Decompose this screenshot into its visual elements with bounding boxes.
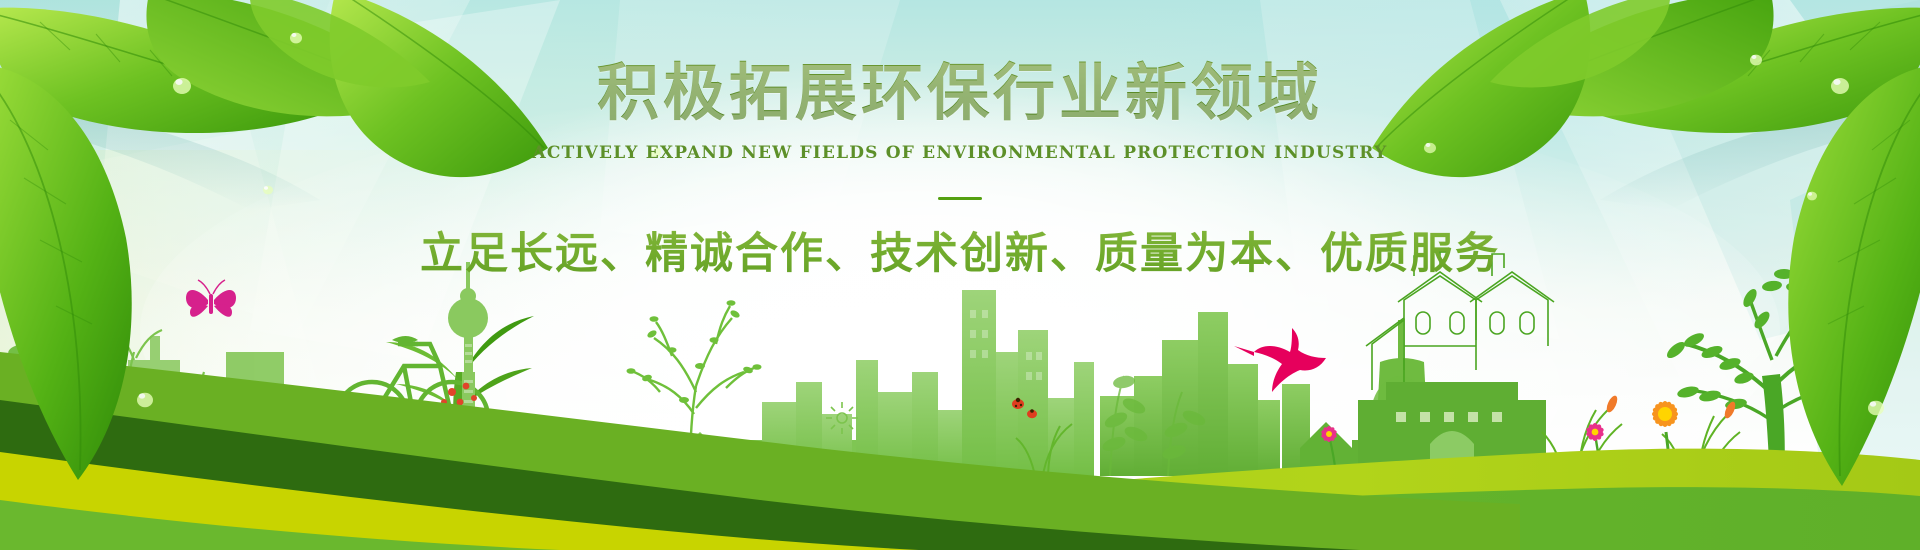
eco-banner: 积极拓展环保行业新领域 ACTIVELY EXPAND NEW FIELDS O… (0, 0, 1920, 550)
title-divider (938, 197, 982, 200)
page-title: 积极拓展环保行业新领域 (0, 58, 1920, 127)
divider-wrap (0, 187, 1920, 197)
dew-drop (1868, 401, 1884, 415)
tagline: 立足长远、精诚合作、技术创新、质量为本、优质服务 (0, 219, 1920, 281)
subtitle-english: ACTIVELY EXPAND NEW FIELDS OF ENVIRONMEN… (0, 143, 1920, 163)
banner-text-block: 积极拓展环保行业新领域 ACTIVELY EXPAND NEW FIELDS O… (0, 58, 1920, 281)
